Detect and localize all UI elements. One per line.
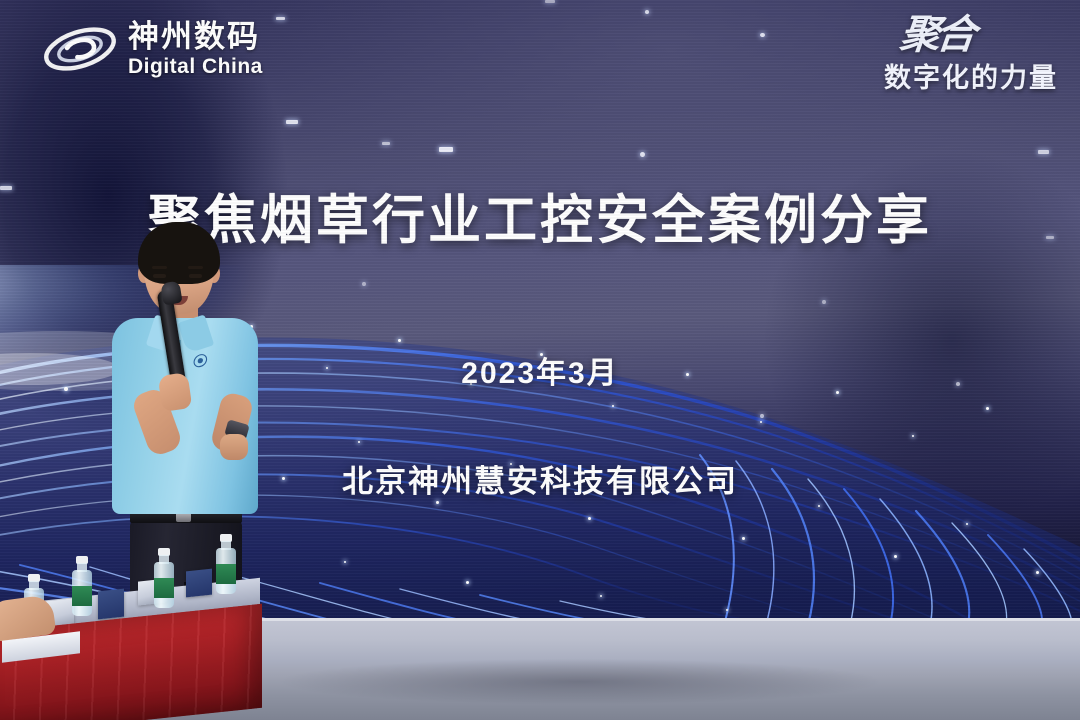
bottle-label: [154, 578, 174, 598]
slogan-subtitle: 数字化的力量: [884, 56, 1058, 95]
brand-logo: 神州数码 Digital China: [42, 18, 263, 80]
bottle-label: [72, 586, 92, 606]
shirt-chest-logo-icon: ⦿: [192, 352, 214, 370]
speaker-brow-right: [188, 266, 203, 269]
speaker-hair: [138, 222, 220, 284]
name-card: [98, 589, 124, 620]
speaker-eye-left: [153, 274, 166, 278]
brand-logo-text: 神州数码 Digital China: [128, 21, 263, 77]
brand-name-en: Digital China: [128, 56, 263, 77]
slogan-calligraphy: 聚合: [882, 16, 974, 54]
brand-name-cn: 神州数码: [128, 21, 263, 52]
speaker-brow-left: [152, 266, 167, 269]
name-card: [186, 569, 212, 598]
speaker-right-hand: [220, 434, 248, 460]
speaker-eye-right: [189, 274, 202, 278]
speaker-left-hand: [158, 372, 193, 412]
swirl-logo-icon: [42, 18, 118, 80]
stage-floor-shadow: [230, 656, 930, 720]
event-slogan: 聚合 数字化的力量: [884, 16, 1058, 95]
bottle-label: [216, 564, 236, 584]
conference-stage-photo: 神州数码 Digital China 聚合 数字化的力量 聚焦烟草行业工控安全案…: [0, 0, 1080, 720]
